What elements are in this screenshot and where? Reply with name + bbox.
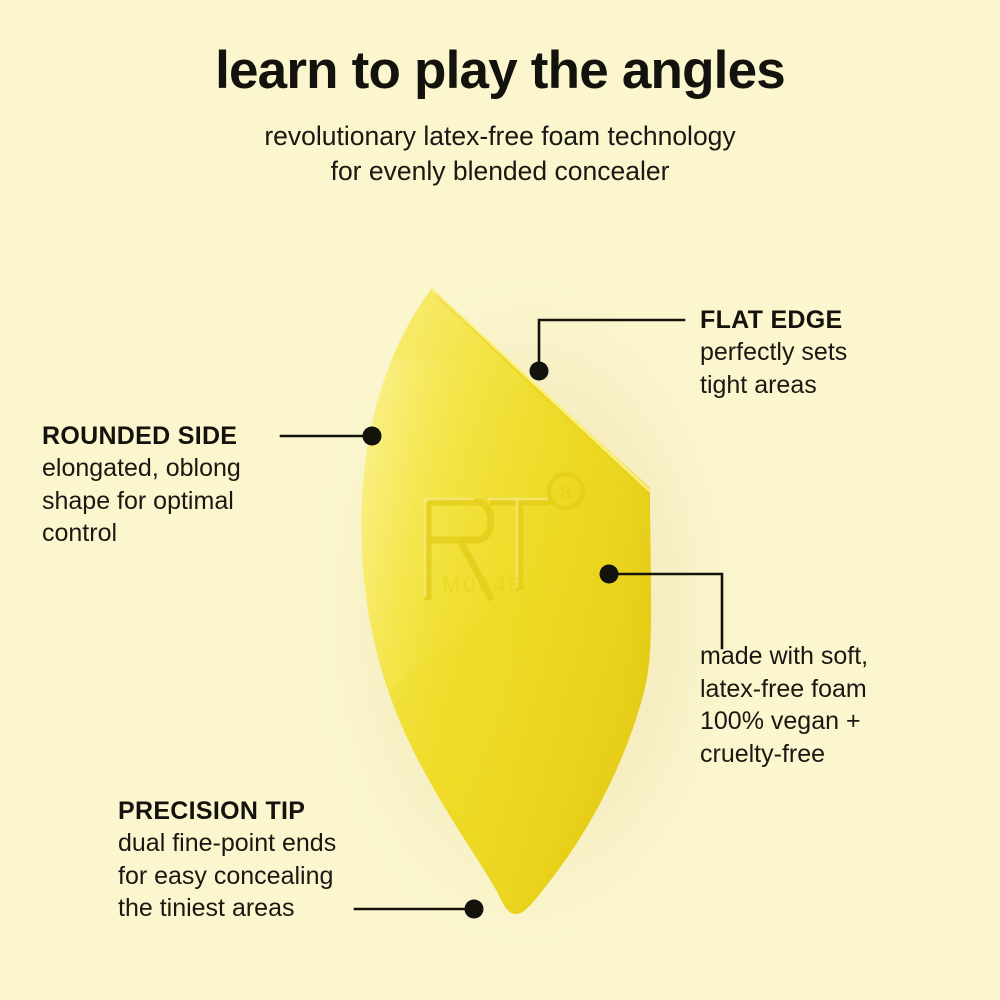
callout-precision-tip-line-1: dual fine-point ends: [118, 827, 336, 860]
callout-foam-line-4: cruelty-free: [700, 738, 868, 771]
page-title: learn to play the angles: [0, 44, 1000, 97]
callout-foam-body: made with soft, latex-free foam 100% veg…: [700, 640, 868, 770]
callout-foam-line-1: made with soft,: [700, 640, 868, 673]
callout-precision-tip-line-3: the tiniest areas: [118, 892, 336, 925]
callout-flat-edge: FLAT EDGE perfectly sets tight areas: [700, 304, 847, 401]
callout-foam-line-3: 100% vegan +: [700, 705, 868, 738]
callout-rounded-side-heading: ROUNDED SIDE: [42, 420, 241, 452]
product-image: R M0343: [300, 240, 740, 960]
callout-foam-line-2: latex-free foam: [700, 673, 868, 706]
callout-flat-edge-heading: FLAT EDGE: [700, 304, 847, 336]
callout-precision-tip: PRECISION TIP dual fine-point ends for e…: [118, 795, 336, 925]
callout-flat-edge-line-2: tight areas: [700, 369, 847, 402]
svg-text:R: R: [560, 482, 573, 503]
callout-flat-edge-body: perfectly sets tight areas: [700, 336, 847, 401]
callout-precision-tip-body: dual fine-point ends for easy concealing…: [118, 827, 336, 925]
subtitle-line-2: for evenly blended concealer: [0, 154, 1000, 189]
callout-rounded-side: ROUNDED SIDE elongated, oblong shape for…: [42, 420, 241, 550]
callout-precision-tip-heading: PRECISION TIP: [118, 795, 336, 827]
page-subtitle: revolutionary latex-free foam technology…: [0, 119, 1000, 189]
header: learn to play the angles revolutionary l…: [0, 44, 1000, 189]
callout-precision-tip-line-2: for easy concealing: [118, 860, 336, 893]
callout-flat-edge-line-1: perfectly sets: [700, 336, 847, 369]
infographic-canvas: learn to play the angles revolutionary l…: [0, 0, 1000, 1000]
sponge-illustration: R M0343: [300, 240, 740, 960]
callout-foam: made with soft, latex-free foam 100% veg…: [700, 640, 868, 770]
callout-rounded-side-line-2: shape for optimal: [42, 485, 241, 518]
callout-rounded-side-line-3: control: [42, 517, 241, 550]
callout-rounded-side-line-1: elongated, oblong: [42, 452, 241, 485]
callout-rounded-side-body: elongated, oblong shape for optimal cont…: [42, 452, 241, 550]
embossed-code: M0343: [442, 572, 524, 597]
subtitle-line-1: revolutionary latex-free foam technology: [0, 119, 1000, 154]
